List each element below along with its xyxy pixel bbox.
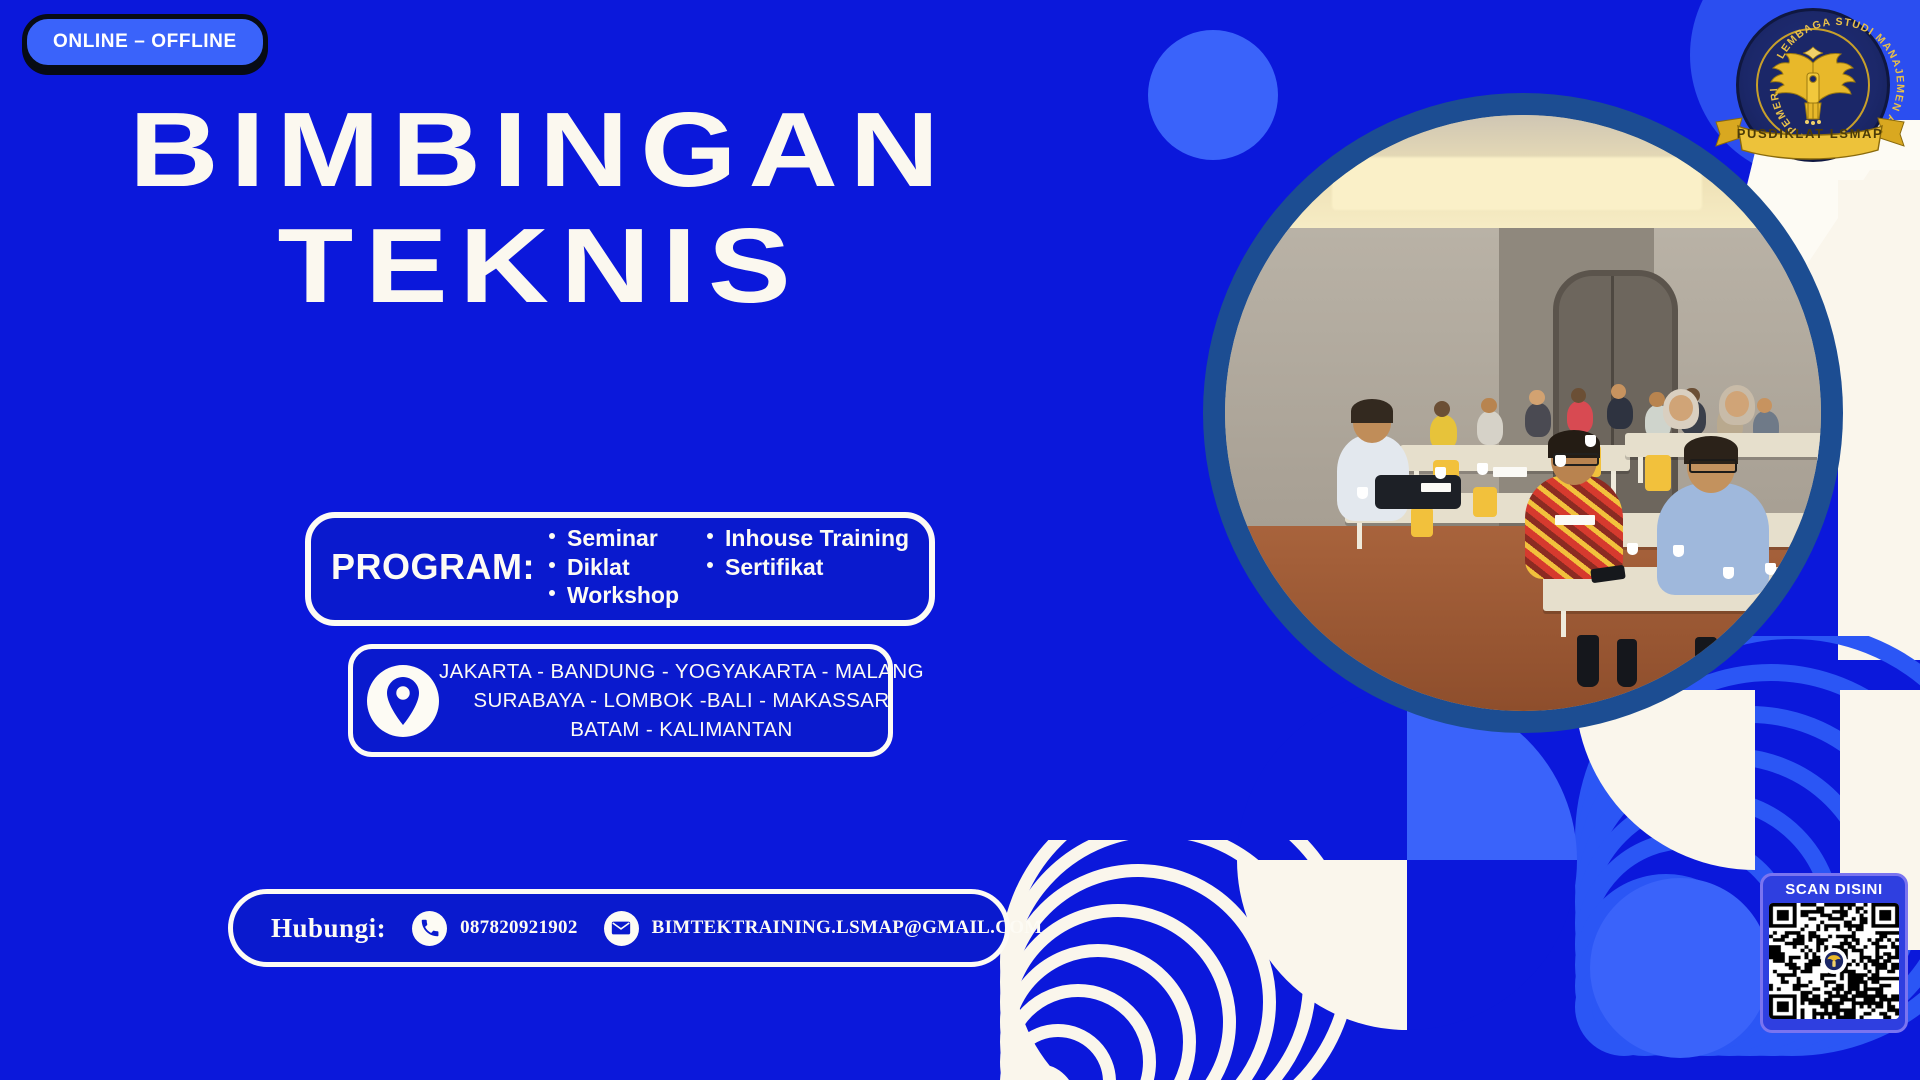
map-pin-icon [367,665,439,737]
location-box: JAKARTA - BANDUNG - YOGYAKARTA - MALANG … [348,644,893,757]
photo-chair [1473,487,1497,517]
decor-cream-strip [1838,180,1920,660]
photo-person-face [1669,395,1693,421]
photo-person-face [1725,391,1749,417]
photo-legs [1695,637,1717,687]
photo-cup [1555,455,1566,467]
decor-quadrant-bl [1237,860,1407,1030]
training-photo [1225,115,1821,711]
program-box: PROGRAM: Seminar Diklat Workshop Inhouse… [305,512,935,626]
photo-person [1657,483,1769,595]
decor-arcs-white [1000,840,1360,1080]
photo-person [1607,397,1633,429]
location-line: SURABAYA - LOMBOK -BALI - MAKASSAR [439,686,924,715]
photo-circle-frame [1203,93,1843,733]
contact-bar: Hubungi: 087820921902 BIMTEKTRAINING.LSM… [228,889,1010,967]
phone-icon [412,911,447,946]
program-item: Sertifikat [707,553,909,582]
qr-card[interactable]: SCAN DISINI [1760,873,1908,1033]
photo-cup [1627,543,1638,555]
photo-cup [1585,435,1596,447]
organization-logo: LEMBAGA STUDI MANAJEMEN AKUNTANSI DAN PE… [1712,8,1908,186]
photo-paper [1421,483,1451,492]
contact-phone[interactable]: 087820921902 [412,911,578,946]
contact-label: Hubungi: [271,913,386,944]
title-line-2: TEKNIS [0,216,1172,318]
photo-cup [1357,487,1368,499]
photo-person-hair [1351,399,1393,423]
program-columns: Seminar Diklat Workshop Inhouse Training… [549,524,911,610]
online-offline-badge[interactable]: ONLINE – OFFLINE [22,14,268,70]
email-address: BIMTEKTRAINING.LSMAP@GMAIL.COM [652,917,1043,939]
photo-person-head [1529,390,1545,406]
photo-scene [1225,115,1821,711]
program-item: Workshop [549,581,679,610]
location-line: JAKARTA - BANDUNG - YOGYAKARTA - MALANG [439,657,924,686]
photo-person-head [1481,398,1497,414]
badge-label: ONLINE – OFFLINE [53,31,237,53]
photo-chair [1411,507,1433,537]
photo-cup [1765,563,1776,575]
photo-paper [1555,515,1595,525]
program-column-2: Inhouse Training Sertifikat [707,524,909,610]
photo-laptop-bag [1375,475,1461,509]
program-item: Seminar [549,524,679,553]
photo-person [1525,475,1623,579]
envelope-icon [604,911,639,946]
qr-embedded-logo [1821,948,1847,974]
photo-person [1525,403,1551,437]
location-line: BATAM - KALIMANTAN [439,715,924,744]
location-lines: JAKARTA - BANDUNG - YOGYAKARTA - MALANG … [439,657,936,744]
photo-person [1477,411,1503,445]
logo-ribbon-text: PUSDIKLAT LSMAP [1712,126,1908,141]
poster-canvas: ONLINE – OFFLINE BIMBINGAN TEKNIS PROGRA… [0,0,1920,1080]
qr-code-icon[interactable] [1769,903,1899,1019]
photo-paper [1493,467,1527,477]
photo-cup [1477,463,1488,475]
decor-quadrant-br [1407,860,1577,1030]
decor-quadrant-circle [1237,690,1577,1030]
contact-email[interactable]: BIMTEKTRAINING.LSMAP@GMAIL.COM [604,911,1043,946]
decor-quadrant-tl [1237,690,1407,860]
photo-person [1567,401,1593,433]
decor-blue-disc [1590,878,1770,1058]
photo-cup [1673,545,1684,557]
program-label: PROGRAM: [331,546,535,588]
title-line-1: BIMBINGAN [0,100,1172,202]
photo-ceiling-light [1332,157,1702,211]
program-column-1: Seminar Diklat Workshop [549,524,679,610]
phone-number: 087820921902 [460,917,578,939]
page-title: BIMBINGAN TEKNIS [0,100,1080,318]
program-item: Inhouse Training [707,524,909,553]
photo-cup [1723,567,1734,579]
photo-legs [1617,639,1637,687]
photo-legs [1577,635,1599,687]
photo-cup [1435,467,1446,479]
qr-title: SCAN DISINI [1769,882,1899,899]
program-item: Diklat [549,553,679,582]
